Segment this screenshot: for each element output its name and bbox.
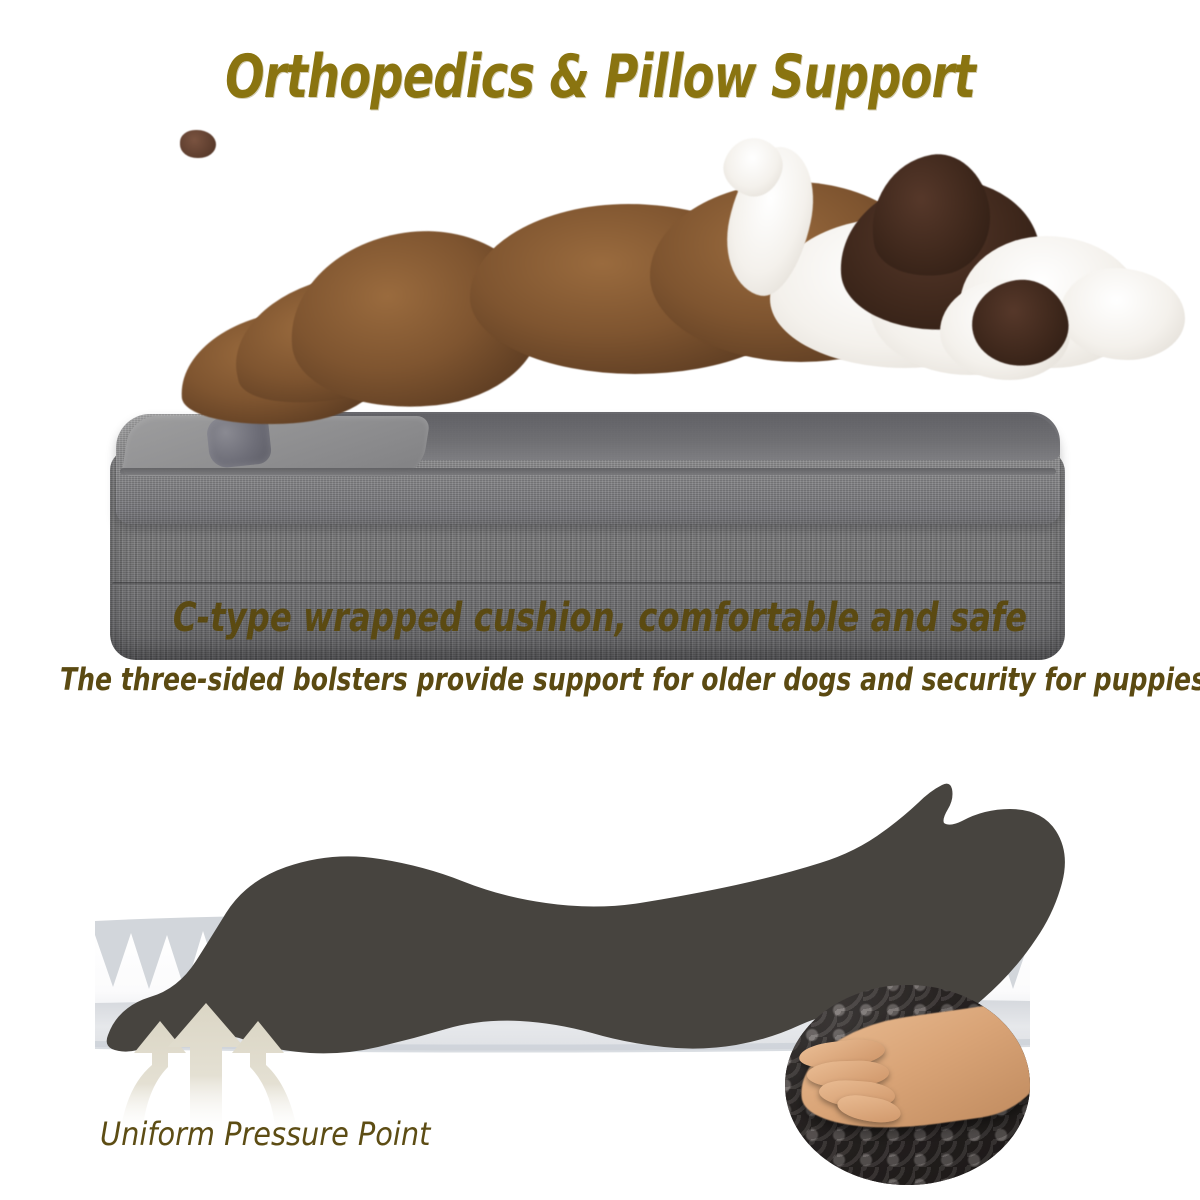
foam-closeup-inset [785, 985, 1030, 1185]
page-title: Orthopedics & Pillow Support [84, 42, 1116, 112]
dog-nose [180, 130, 216, 158]
dog-muzzle [1060, 268, 1185, 360]
bolster-piping [120, 468, 1056, 475]
dog-photo [180, 130, 1120, 460]
pressure-caption: Uniform Pressure Point [100, 1115, 430, 1153]
product-infographic-page: Orthopedics & Pillow Support [0, 0, 1200, 1200]
bed-seam-line [112, 582, 1062, 586]
feature-subtitle: C-type wrapped cushion, comfortable and … [60, 595, 1140, 641]
product-photo [0, 130, 1200, 580]
feature-description: The three-sided bolsters provide support… [60, 662, 1140, 698]
